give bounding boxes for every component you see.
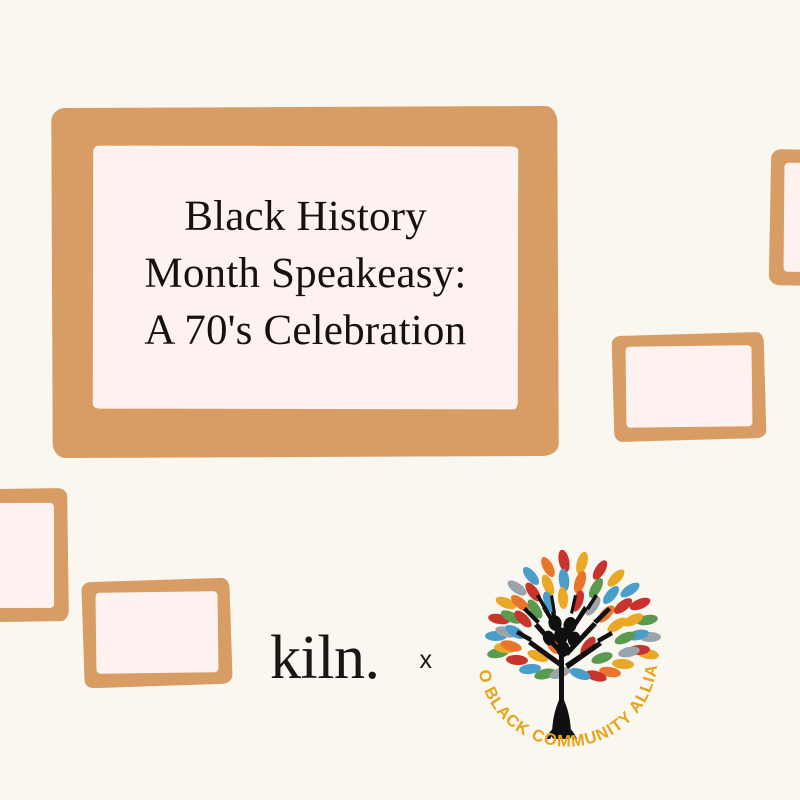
decor-frame-top-right <box>769 149 800 287</box>
frame-mat <box>0 503 54 608</box>
event-title-line-1: Black History <box>184 188 427 246</box>
frame-mat: Black History Month Speakeasy: A 70's Ce… <box>93 146 518 410</box>
event-title-line-3: A 70's Celebration <box>144 302 466 360</box>
partner-lockup: kiln. x <box>270 560 740 730</box>
partner-separator: x <box>419 646 432 675</box>
ibca-logo: IDAHO BLACK COMMUNITY ALLIANCE <box>460 540 675 755</box>
frame-mat <box>95 591 218 673</box>
decor-frame-bottom-left <box>81 578 232 689</box>
frame-mat <box>784 163 800 273</box>
frame-mat <box>625 345 752 428</box>
decor-frame-left-edge <box>0 488 69 623</box>
poster-canvas: Black History Month Speakeasy: A 70's Ce… <box>0 0 800 800</box>
event-title-line-2: Month Speakeasy: <box>144 245 466 303</box>
main-title-frame: Black History Month Speakeasy: A 70's Ce… <box>51 106 559 458</box>
decor-frame-mid-right <box>612 332 767 442</box>
kiln-logo: kiln. <box>270 627 379 689</box>
event-title: Black History Month Speakeasy: A 70's Ce… <box>93 146 518 410</box>
